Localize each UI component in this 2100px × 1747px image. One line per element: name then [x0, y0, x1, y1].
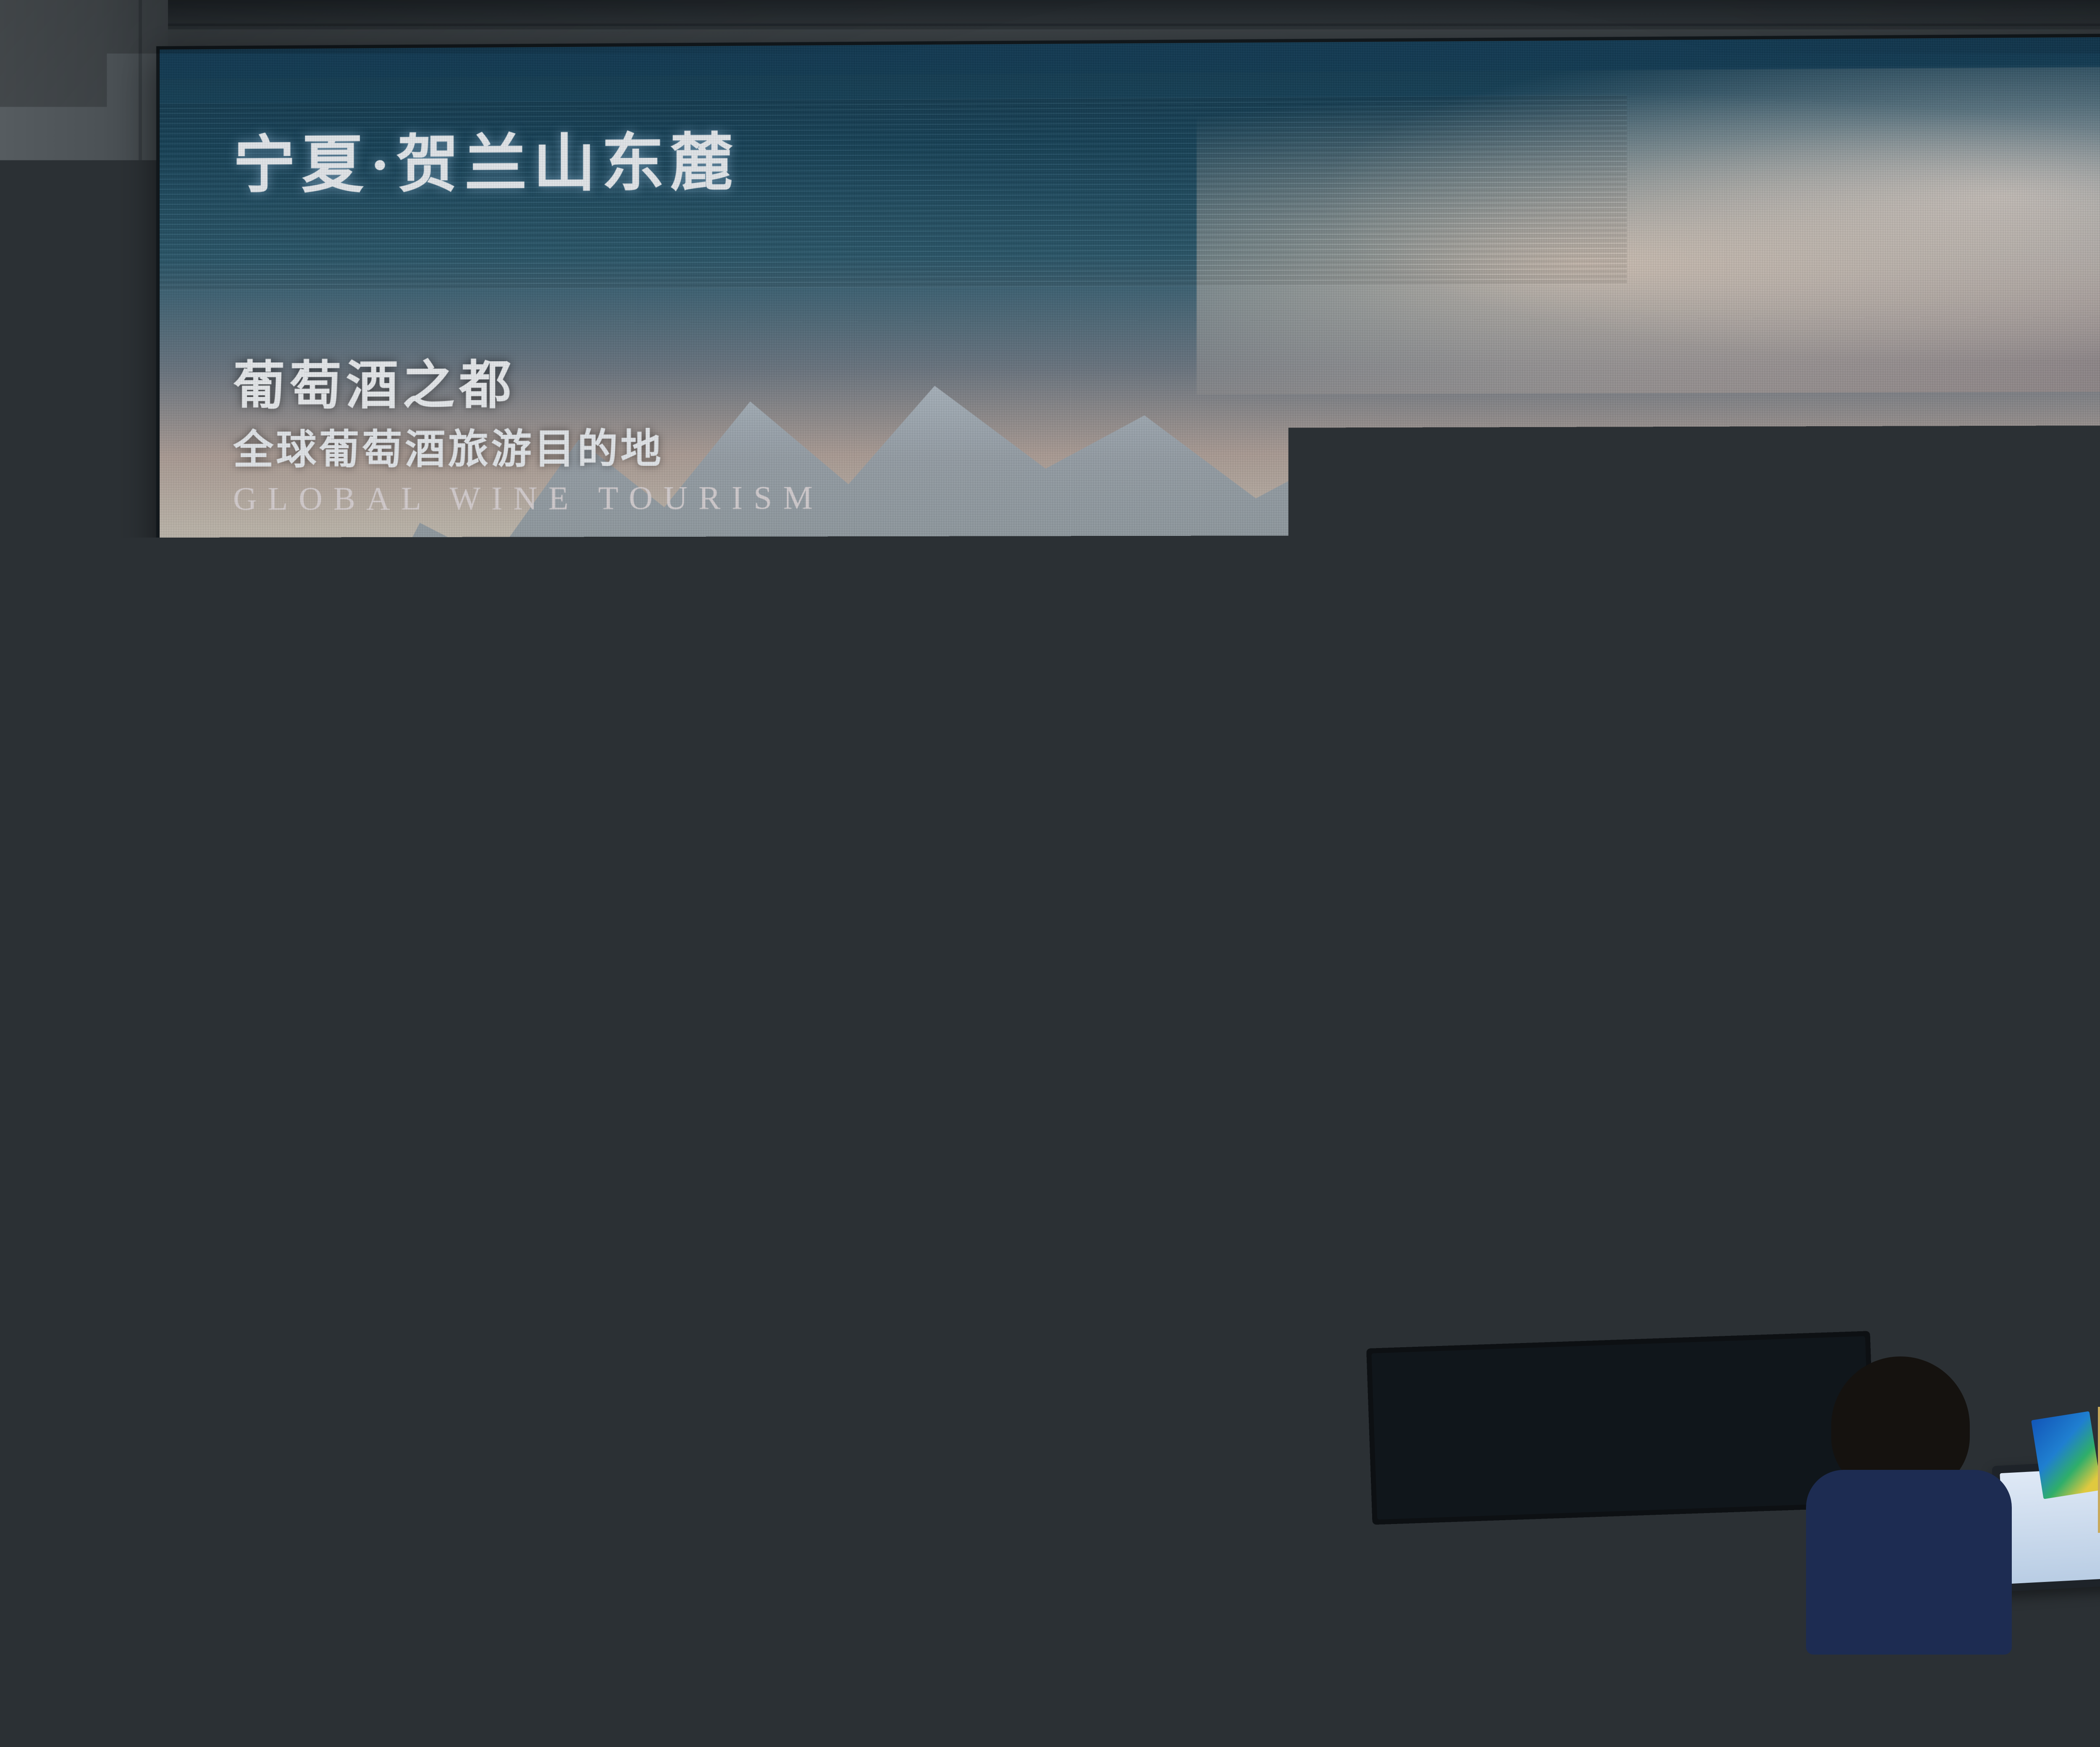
- stat-label: 葡萄酒产量占全国: [1134, 1128, 1563, 1166]
- presenter-hand-mic: [676, 1117, 731, 1180]
- stat-block-4: 年产葡萄酒 1.38亿瓶: [708, 1126, 1134, 1230]
- slide-caption: 宁夏葡萄酒获评中国地理标志产品: [1872, 1179, 2100, 1239]
- wine-label-text-left: 金波湖: [1789, 917, 1826, 991]
- left-wall-seam: [139, 0, 142, 1453]
- ceiling-seam: [0, 24, 2100, 26]
- stat-unit: 家: [375, 1183, 412, 1224]
- stat-unit: %: [769, 1035, 801, 1077]
- stat-unit: 万亩: [346, 1034, 420, 1075]
- wine-label-text-right: 金波湖: [1942, 882, 1996, 993]
- stat-value: 342.7: [1134, 1015, 1271, 1083]
- stat-block-1: 种植面积占全国 37%: [708, 978, 1134, 1081]
- slide-subtitle-main: 葡萄酒之都: [233, 342, 515, 419]
- stat-label: 种植面积占全国: [708, 978, 1134, 1015]
- eyeglasses-icon: [558, 765, 646, 790]
- desk-flag-pair: [2037, 1415, 2100, 1520]
- left-lower-cabinet: [0, 1067, 139, 1328]
- stat-value: 228: [286, 1161, 375, 1228]
- stat-label: 葡萄酒产业产值: [1134, 979, 1563, 1017]
- presenter: [458, 689, 760, 1403]
- banner-text-fill: 筑梦青春 志在四方: [39, 1380, 1220, 1595]
- wall-outlet: [19, 1314, 107, 1340]
- screenshot-root: 宁夏·贺兰山东麓 葡萄酒之都 全球葡萄酒旅游目的地 GLOBAL WINE TO…: [0, 0, 2100, 1747]
- slide-subtitle-second: 全球葡萄酒旅游目的地: [233, 416, 664, 475]
- stat-unit: %: [1195, 1185, 1227, 1227]
- stage-monitor: [1366, 1331, 1876, 1525]
- slide-english-line1: GLOBAL WINE TOURISM: [233, 478, 824, 517]
- slide-english-line2: DESTINATION: [233, 530, 570, 568]
- foreground-glass-banner: 筑梦青春 志在四方 筑梦青春 志在四方: [0, 1364, 1414, 1639]
- table-tent-judge: 评委: [1397, 1552, 1526, 1636]
- presenter-hand-clicker: [685, 1260, 735, 1314]
- stat-value: 60: [286, 1013, 345, 1080]
- wine-bottles-photo: 金波湖 金波湖: [1659, 766, 2100, 1206]
- stat-block-2: 葡萄酒产业产值 342.7亿元: [1134, 979, 1563, 1083]
- stat-unit: 亿瓶: [814, 1184, 889, 1225]
- water-bottle-3: [1703, 1529, 1737, 1634]
- id-badge: [624, 1230, 674, 1306]
- slide-title: 宁夏·贺兰山东麓: [233, 111, 739, 205]
- audience-person-3: [1806, 1356, 2008, 1650]
- stat-value: 41: [1134, 1165, 1195, 1232]
- stat-unit: 亿元: [1271, 1037, 1347, 1079]
- stat-block-5: 葡萄酒产量占全国 41%: [1134, 1128, 1563, 1232]
- led-video-wall: 宁夏·贺兰山东麓 葡萄酒之都 全球葡萄酒旅游目的地 GLOBAL WINE TO…: [160, 34, 2100, 1404]
- table-tent-label: 评委: [1431, 1574, 1491, 1614]
- stat-label: 年产葡萄酒: [708, 1126, 1134, 1165]
